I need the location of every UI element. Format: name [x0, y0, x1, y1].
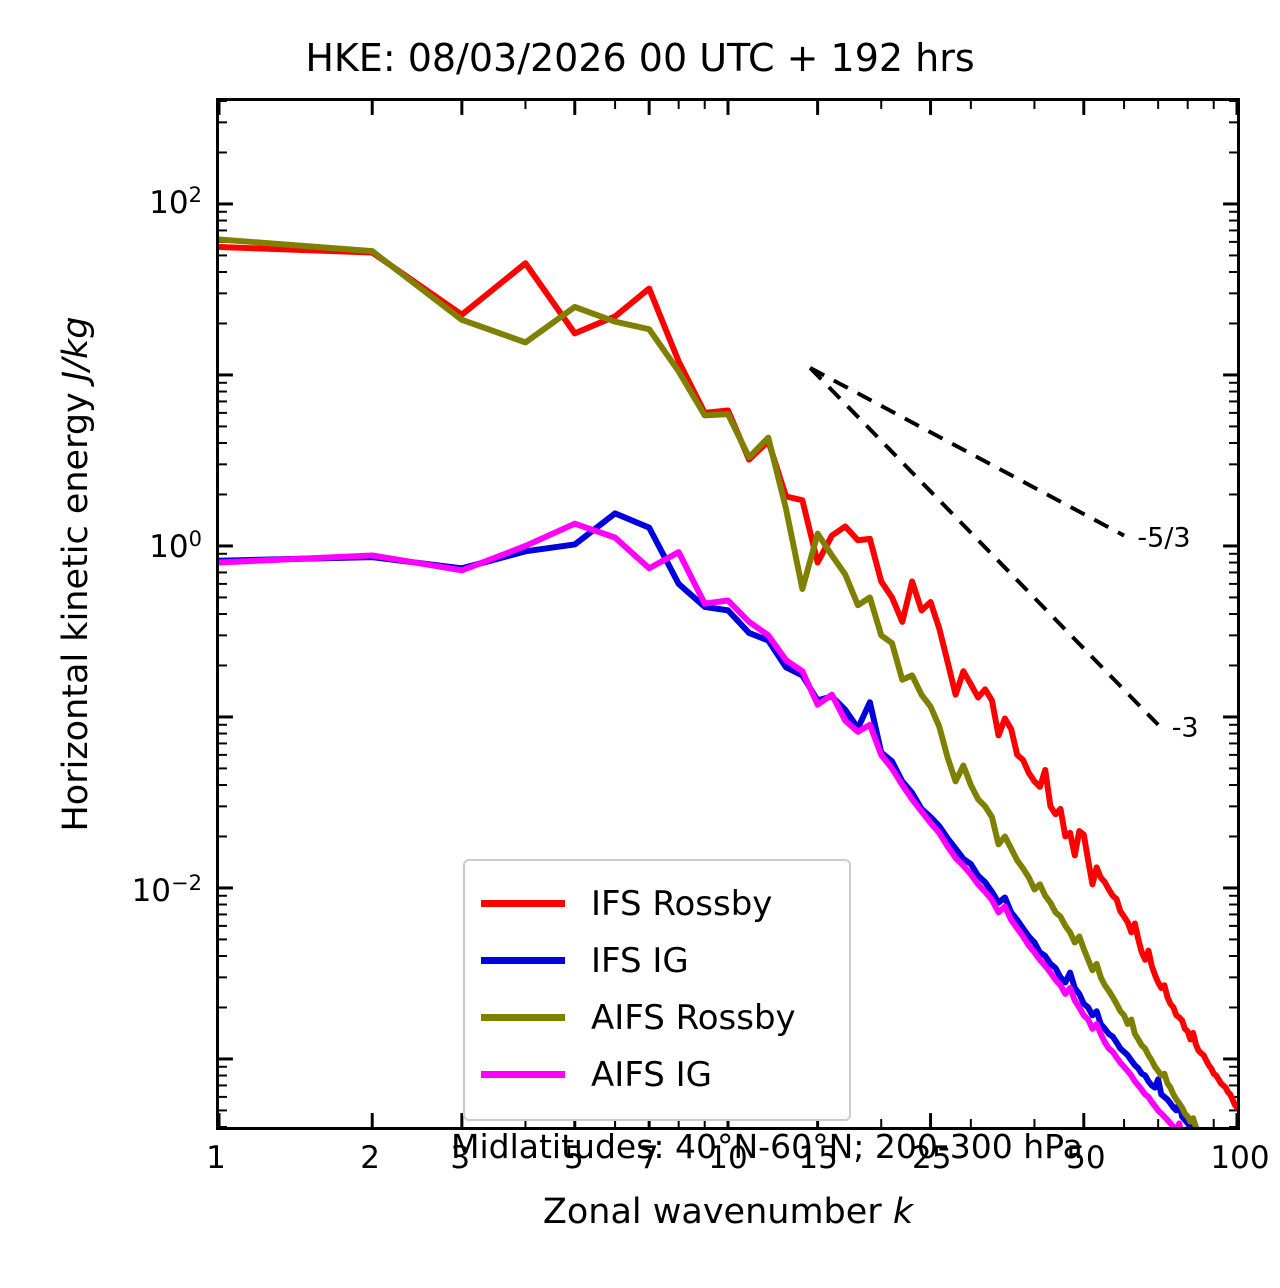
y-tick-label-1: 100 — [149, 526, 202, 564]
x-tick-label-2: 3 — [450, 1140, 470, 1176]
slope-label-three: -3 — [1172, 713, 1199, 744]
x-tick-label-0: 1 — [206, 1140, 226, 1176]
legend-label-aifs-ig: AIFS IG — [591, 1055, 712, 1095]
reference-line-0 — [810, 368, 1124, 536]
x-tick-label-6: 15 — [798, 1140, 837, 1176]
x-tick-label-1: 2 — [360, 1140, 380, 1176]
x-axis-label: Zonal wavenumber k — [216, 1192, 1240, 1232]
chart-page: HKE: 08/03/2026 00 UTC + 192 hrs -5/3 -3… — [0, 0, 1280, 1288]
legend-label-aifs-rossby: AIFS Rossby — [591, 998, 796, 1038]
x-tick-label-5: 10 — [708, 1140, 747, 1176]
x-axis-label-text: Zonal wavenumber — [543, 1192, 893, 1232]
x-axis-label-symbol: k — [893, 1192, 913, 1232]
legend-swatch-ifs-rossby — [481, 900, 565, 907]
x-tick-label-7: 25 — [912, 1140, 951, 1176]
y-axis-label-text: Horizontal kinetic energy — [56, 381, 96, 831]
legend-item-aifs-ig[interactable]: AIFS IG — [481, 1046, 833, 1103]
x-tick-label-4: 7 — [639, 1140, 659, 1176]
legend-swatch-aifs-ig — [481, 1071, 565, 1078]
y-axis-label-units: J/kg — [56, 316, 96, 381]
x-tick-label-9: 100 — [1210, 1140, 1269, 1176]
chart-legend: IFS Rossby IFS IG AIFS Rossby AIFS IG — [463, 859, 851, 1121]
reference-line-1 — [810, 368, 1158, 725]
legend-item-ifs-ig[interactable]: IFS IG — [481, 932, 833, 989]
legend-swatch-aifs-rossby — [481, 1014, 565, 1021]
chart-title: HKE: 08/03/2026 00 UTC + 192 hrs — [0, 36, 1280, 80]
plot-area: -5/3 -3 IFS Rossby IFS IG AIFS Rossby AI… — [216, 98, 1240, 1130]
legend-label-ifs-ig: IFS IG — [591, 941, 689, 981]
y-tick-label-0: 10−2 — [132, 870, 202, 908]
legend-item-aifs-rossby[interactable]: AIFS Rossby — [481, 989, 833, 1046]
y-tick-label-2: 102 — [149, 182, 202, 220]
slope-label-five-thirds: -5/3 — [1137, 523, 1190, 554]
x-tick-label-8: 50 — [1066, 1140, 1105, 1176]
y-axis-label: Horizontal kinetic energy J/kg — [56, 58, 96, 1090]
x-axis-tick-labels: 1235710152550100 — [216, 1140, 1240, 1188]
legend-label-ifs-rossby: IFS Rossby — [591, 884, 772, 924]
legend-swatch-ifs-ig — [481, 957, 565, 964]
y-axis-tick-labels: 10−2100102 — [90, 98, 202, 1130]
x-tick-label-3: 5 — [564, 1140, 584, 1176]
legend-item-ifs-rossby[interactable]: IFS Rossby — [481, 875, 833, 932]
reference-lines — [810, 368, 1158, 725]
